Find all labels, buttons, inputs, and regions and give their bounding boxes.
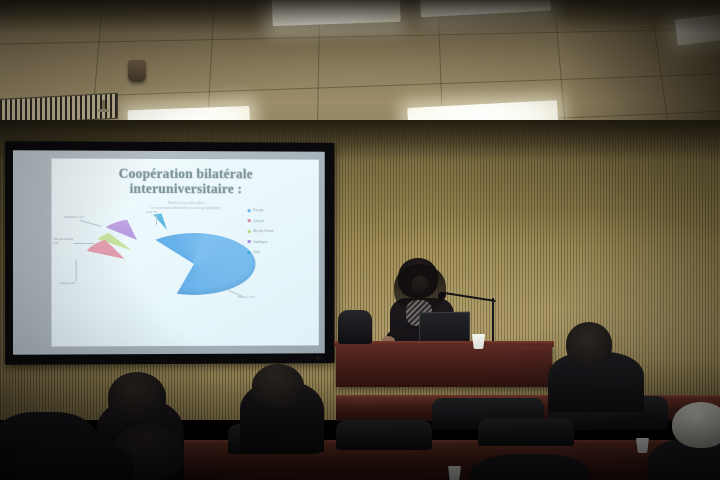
chart-legend: Europe Afrique Moyen-Orient Amérique — [248, 205, 274, 257]
pie-label-moyen-orient: Moyen-Orient 5% — [53, 237, 75, 245]
audience-member-head — [252, 364, 304, 408]
audience-member-cap — [672, 402, 720, 448]
legend-label-asie: Asie — [253, 250, 260, 254]
water-bottle[interactable] — [396, 371, 408, 405]
legend-item: Afrique — [248, 216, 274, 226]
legend-swatch-amerique — [248, 240, 251, 243]
legend-item: Moyen-Orient — [248, 226, 274, 236]
projector-brand-label: PJ — [317, 356, 321, 360]
slide-subtitle: Nombre d'accords-cadres et conventions b… — [51, 201, 318, 212]
chair[interactable] — [478, 418, 574, 446]
leader-line — [74, 243, 94, 244]
pie-label-afrique: Afrique 9% — [60, 281, 76, 285]
pie-slice-europe — [132, 233, 256, 299]
legend-swatch-asie — [248, 251, 251, 254]
legend-label-afrique: Afrique — [253, 219, 264, 223]
legend-swatch-moyen-orient — [248, 230, 251, 233]
legend-item: Europe — [248, 205, 274, 216]
audience-member-shoulders — [14, 440, 134, 480]
legend-swatch-europe — [248, 209, 251, 212]
legend-label-moyen-orient: Moyen-Orient — [253, 229, 273, 233]
projection-screen[interactable]: Coopération bilatérale interuniversitair… — [5, 141, 335, 365]
paper-cup[interactable] — [448, 466, 461, 480]
water-bottle[interactable] — [488, 312, 500, 346]
podium — [336, 345, 552, 387]
leader-line — [156, 215, 157, 225]
audience-member-head — [566, 322, 612, 366]
pie-label-asie: Asie 3% — [146, 210, 158, 214]
conference-room-photo: Coopération bilatérale interuniversitair… — [0, 0, 720, 480]
presentation-slide: Coopération bilatérale interuniversitair… — [51, 158, 318, 346]
water-bottle[interactable] — [688, 365, 700, 399]
water-bottle[interactable] — [196, 392, 208, 426]
audience-member-shoulders — [470, 454, 590, 480]
legend-swatch-afrique — [248, 219, 251, 222]
legend-item: Amérique — [248, 237, 274, 247]
slide-title-line2: interuniversitaire : — [51, 181, 318, 196]
paper-cup[interactable] — [636, 438, 649, 453]
slide-title: Coopération bilatérale interuniversitair… — [51, 167, 318, 197]
audience-member-head — [108, 372, 166, 422]
paper-cup[interactable] — [472, 334, 485, 349]
pie-chart: Amérique 11% Moyen-Orient 5% Afrique 9% … — [51, 211, 318, 347]
pie-label-amerique: Amérique 11% — [64, 215, 85, 219]
chair[interactable] — [338, 310, 372, 344]
slide-title-line1: Coopération bilatérale — [51, 167, 318, 182]
legend-item: Asie — [248, 247, 274, 257]
legend-label-europe: Europe — [253, 208, 263, 212]
leader-line — [76, 259, 77, 281]
projection-surface: Coopération bilatérale interuniversitair… — [13, 150, 325, 354]
legend-label-amerique: Amérique — [253, 240, 267, 244]
water-bottle[interactable] — [428, 448, 440, 480]
chair[interactable] — [336, 420, 432, 450]
ceiling-speaker — [128, 60, 146, 82]
pie-label-europe: Europe 72% — [238, 295, 258, 299]
sprinkler-icon — [102, 100, 105, 111]
microphone-icon — [438, 292, 446, 299]
